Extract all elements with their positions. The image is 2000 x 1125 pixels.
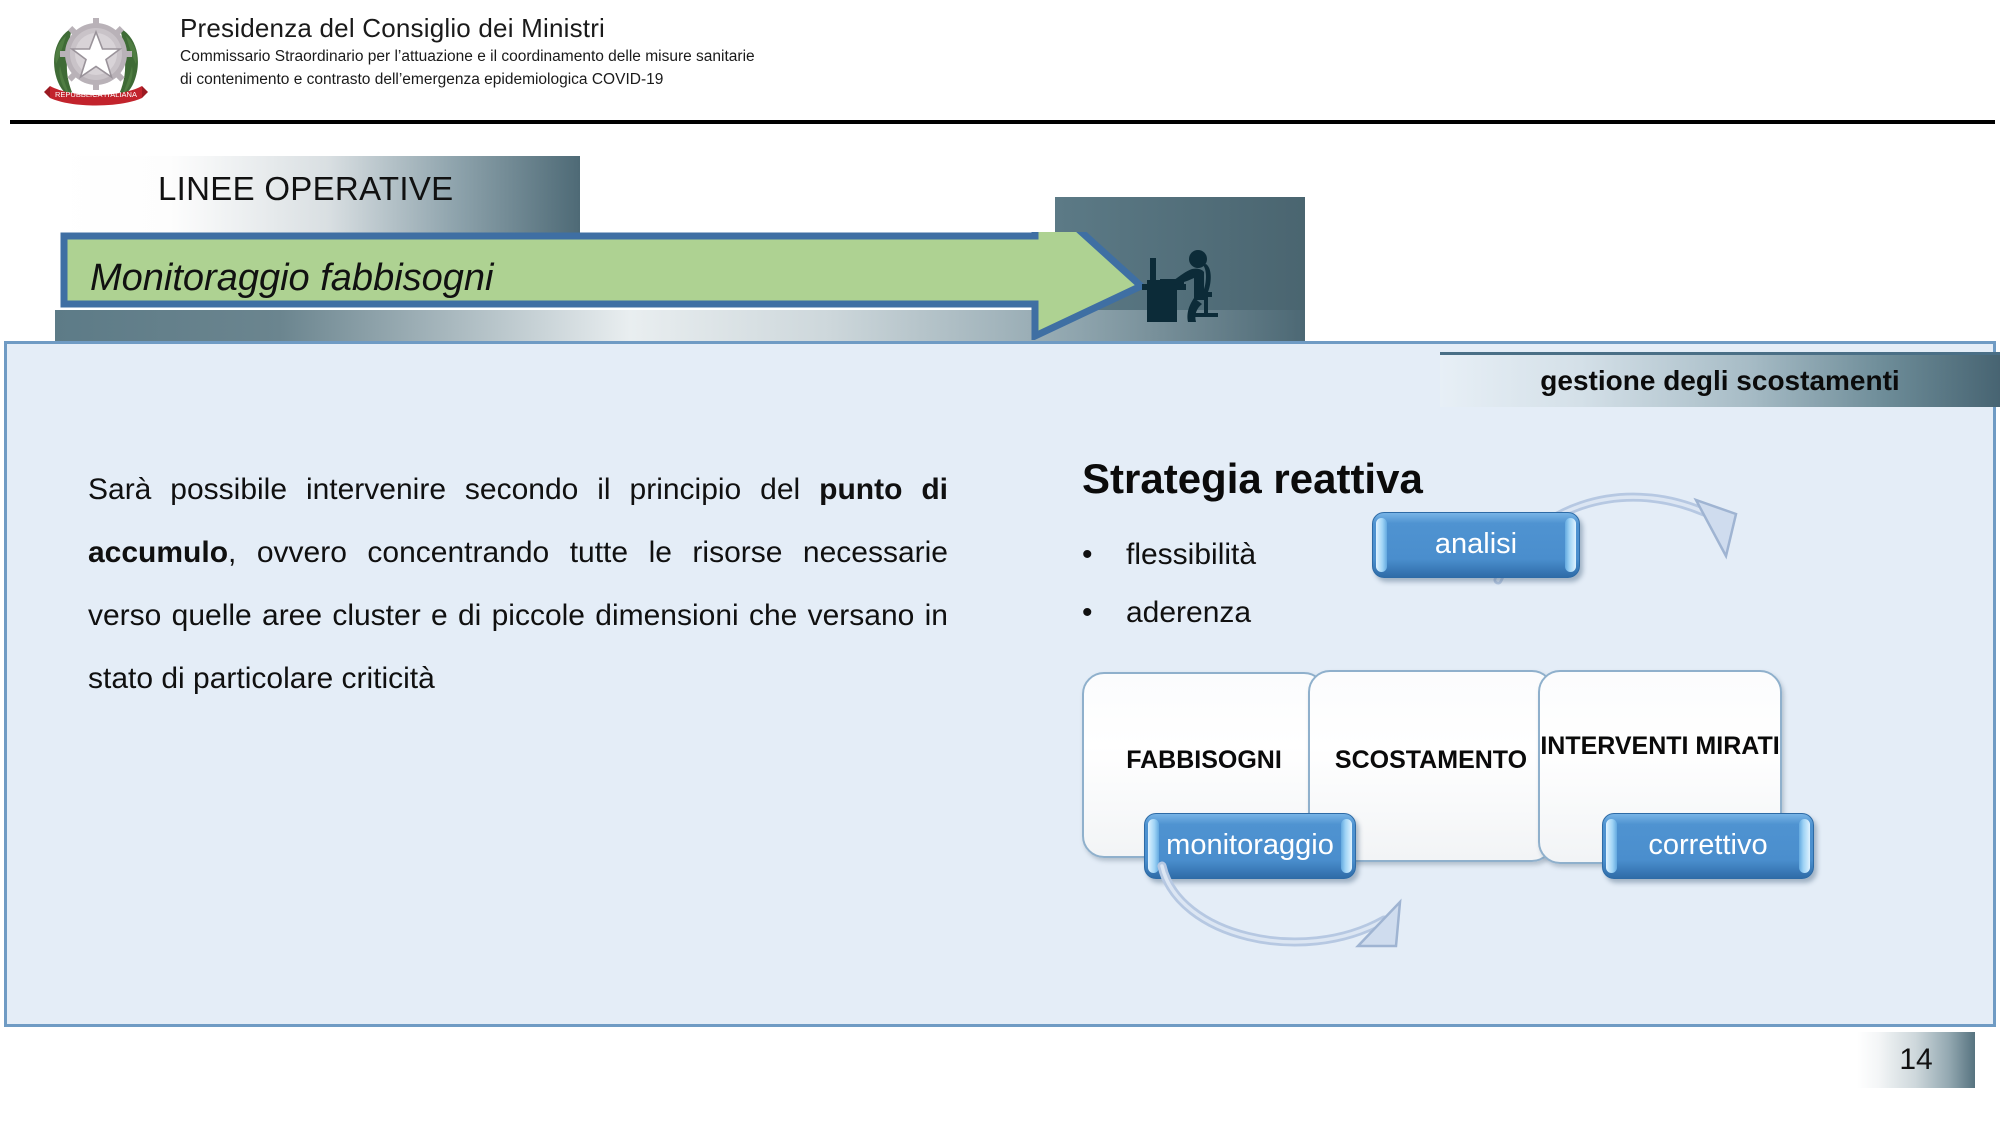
right-banner-label: gestione degli scostamenti	[1440, 355, 2000, 407]
section-banner-arrow: Monitoraggio fabbisogni	[60, 232, 1145, 340]
curved-arrow-bottom-icon	[1152, 860, 1482, 990]
header-title: Presidenza del Consiglio dei Ministri	[180, 12, 755, 45]
header-text-block: Presidenza del Consiglio dei Ministri Co…	[180, 12, 755, 91]
right-banner-gestione: gestione degli scostamenti	[1440, 352, 2000, 407]
paragraph-prefix: Sarà possibile intervenire secondo il pr…	[88, 473, 819, 506]
header-divider	[10, 120, 1995, 124]
diagram-button-label: analisi	[1373, 528, 1579, 561]
body-paragraph: Sarà possibile intervenire secondo il pr…	[88, 458, 948, 710]
strategy-title: Strategia reattiva	[1082, 455, 1423, 503]
emblem-ribbon-text: REPUBBLICA ITALIANA	[55, 90, 137, 99]
header-subtitle-line-2: di contenimento e contrasto dell’emergen…	[180, 68, 755, 91]
page-number-badge: 14	[1857, 1032, 1975, 1088]
diagram-button-label: monitoraggio	[1145, 829, 1355, 862]
section-tab-linee-operative: LINEE OPERATIVE	[55, 156, 580, 234]
section-tab-label: LINEE OPERATIVE	[158, 170, 453, 208]
italian-republic-emblem-icon: REPUBBLICA ITALIANA	[42, 6, 150, 110]
process-box-label: FABBISOGNI	[1084, 744, 1324, 776]
process-box-label: SCOSTAMENTO	[1310, 744, 1552, 776]
header-subtitle-line-1: Commissario Straordinario per l’attuazio…	[180, 45, 755, 68]
process-box-label: INTERVENTI MIRATI	[1540, 730, 1780, 762]
person-at-desk-icon	[1140, 238, 1236, 330]
section-banner-label: Monitoraggio fabbisogni	[90, 257, 890, 300]
diagram-button-correttivo[interactable]: correttivo	[1602, 813, 1814, 879]
page-number: 14	[1857, 1032, 1975, 1088]
diagram-button-analisi[interactable]: analisi	[1372, 512, 1580, 578]
diagram-button-label: correttivo	[1603, 829, 1813, 862]
process-diagram: FABBISOGNI SCOSTAMENTO INTERVENTI MIRATI…	[1060, 540, 2000, 960]
page-header: REPUBBLICA ITALIANA Presidenza del Consi…	[0, 0, 2000, 122]
